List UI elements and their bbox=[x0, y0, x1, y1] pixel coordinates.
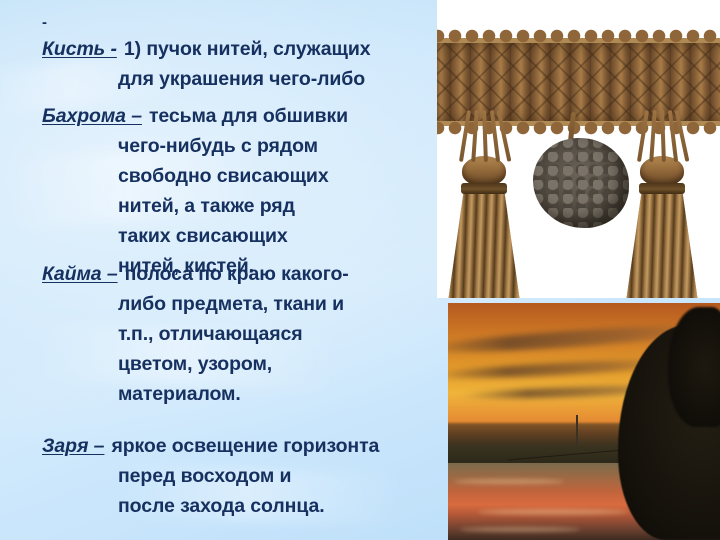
definition-entry-kist: Кисть -1) пучок нитей, служащих для укра… bbox=[42, 34, 454, 94]
definition-text-line: свободно свисающих bbox=[42, 161, 454, 191]
definition-text-line: либо предмета, ткани и bbox=[42, 289, 454, 319]
water-glint bbox=[454, 479, 564, 484]
definitions-column: - Кисть -1) пучок нитей, служащих для ук… bbox=[0, 0, 450, 540]
tassel-neck bbox=[461, 183, 507, 194]
tassel-skirt bbox=[447, 194, 521, 298]
sunset-foreground-bush bbox=[668, 307, 720, 427]
tassel-neck bbox=[639, 183, 685, 194]
tassel-cords bbox=[461, 110, 507, 162]
headword-kist: Кисть - bbox=[42, 38, 117, 60]
definition-text-line: перед восходом и bbox=[42, 461, 454, 491]
tassel-right bbox=[625, 110, 699, 298]
definition-first-line: Бахрома –тесьма для обшивки bbox=[42, 101, 454, 131]
definition-text-line: цветом, узором, bbox=[42, 349, 454, 379]
definition-entry-kayma: Кайма –полоса по краю какого- либо предм… bbox=[42, 259, 454, 409]
definition-text-line: тесьма для обшивки bbox=[149, 105, 348, 127]
definition-entry-zarya: Заря –яркое освещение горизонта перед во… bbox=[42, 431, 454, 521]
definition-text-line: после захода солнца. bbox=[42, 491, 454, 521]
definition-text-line: т.п., отличающаяся bbox=[42, 319, 454, 349]
headword-zarya: Заря – bbox=[42, 435, 104, 457]
sunset-pole bbox=[576, 415, 578, 445]
tassel-left bbox=[447, 110, 521, 298]
definition-text-line: полоса по краю какого- bbox=[125, 263, 349, 285]
definition-first-line: Кайма –полоса по краю какого- bbox=[42, 259, 454, 289]
headword-kayma: Кайма – bbox=[42, 263, 118, 285]
tassel-cords bbox=[639, 110, 685, 162]
definition-text-line: 1) пучок нитей, служащих bbox=[124, 38, 371, 60]
definition-text-line: яркое освещение горизонта bbox=[111, 435, 379, 457]
water-glint bbox=[460, 527, 580, 532]
definition-first-line: Заря –яркое освещение горизонта bbox=[42, 431, 454, 461]
definition-text-line: таких свисающих bbox=[42, 221, 454, 251]
pompom-ball bbox=[533, 138, 629, 228]
top-dash-marker: - bbox=[42, 15, 47, 30]
definition-first-line: Кисть -1) пучок нитей, служащих bbox=[42, 34, 454, 64]
definition-text-line: материалом. bbox=[42, 379, 454, 409]
tassel-fringe-trim-photo bbox=[437, 0, 720, 298]
definition-text-line: чего-нибудь с рядом bbox=[42, 131, 454, 161]
definition-entry-bahroma: Бахрома –тесьма для обшивки чего-нибудь … bbox=[42, 101, 454, 281]
definition-text-line: нитей, а также ряд bbox=[42, 191, 454, 221]
tassel-skirt bbox=[625, 194, 699, 298]
sunset-over-river-photo bbox=[448, 303, 720, 540]
water-glint bbox=[478, 509, 628, 515]
definition-text-line: для украшения чего-либо bbox=[42, 64, 454, 94]
slide-canvas: - Кисть -1) пучок нитей, служащих для ук… bbox=[0, 0, 720, 540]
headword-bahroma: Бахрома – bbox=[42, 105, 142, 127]
